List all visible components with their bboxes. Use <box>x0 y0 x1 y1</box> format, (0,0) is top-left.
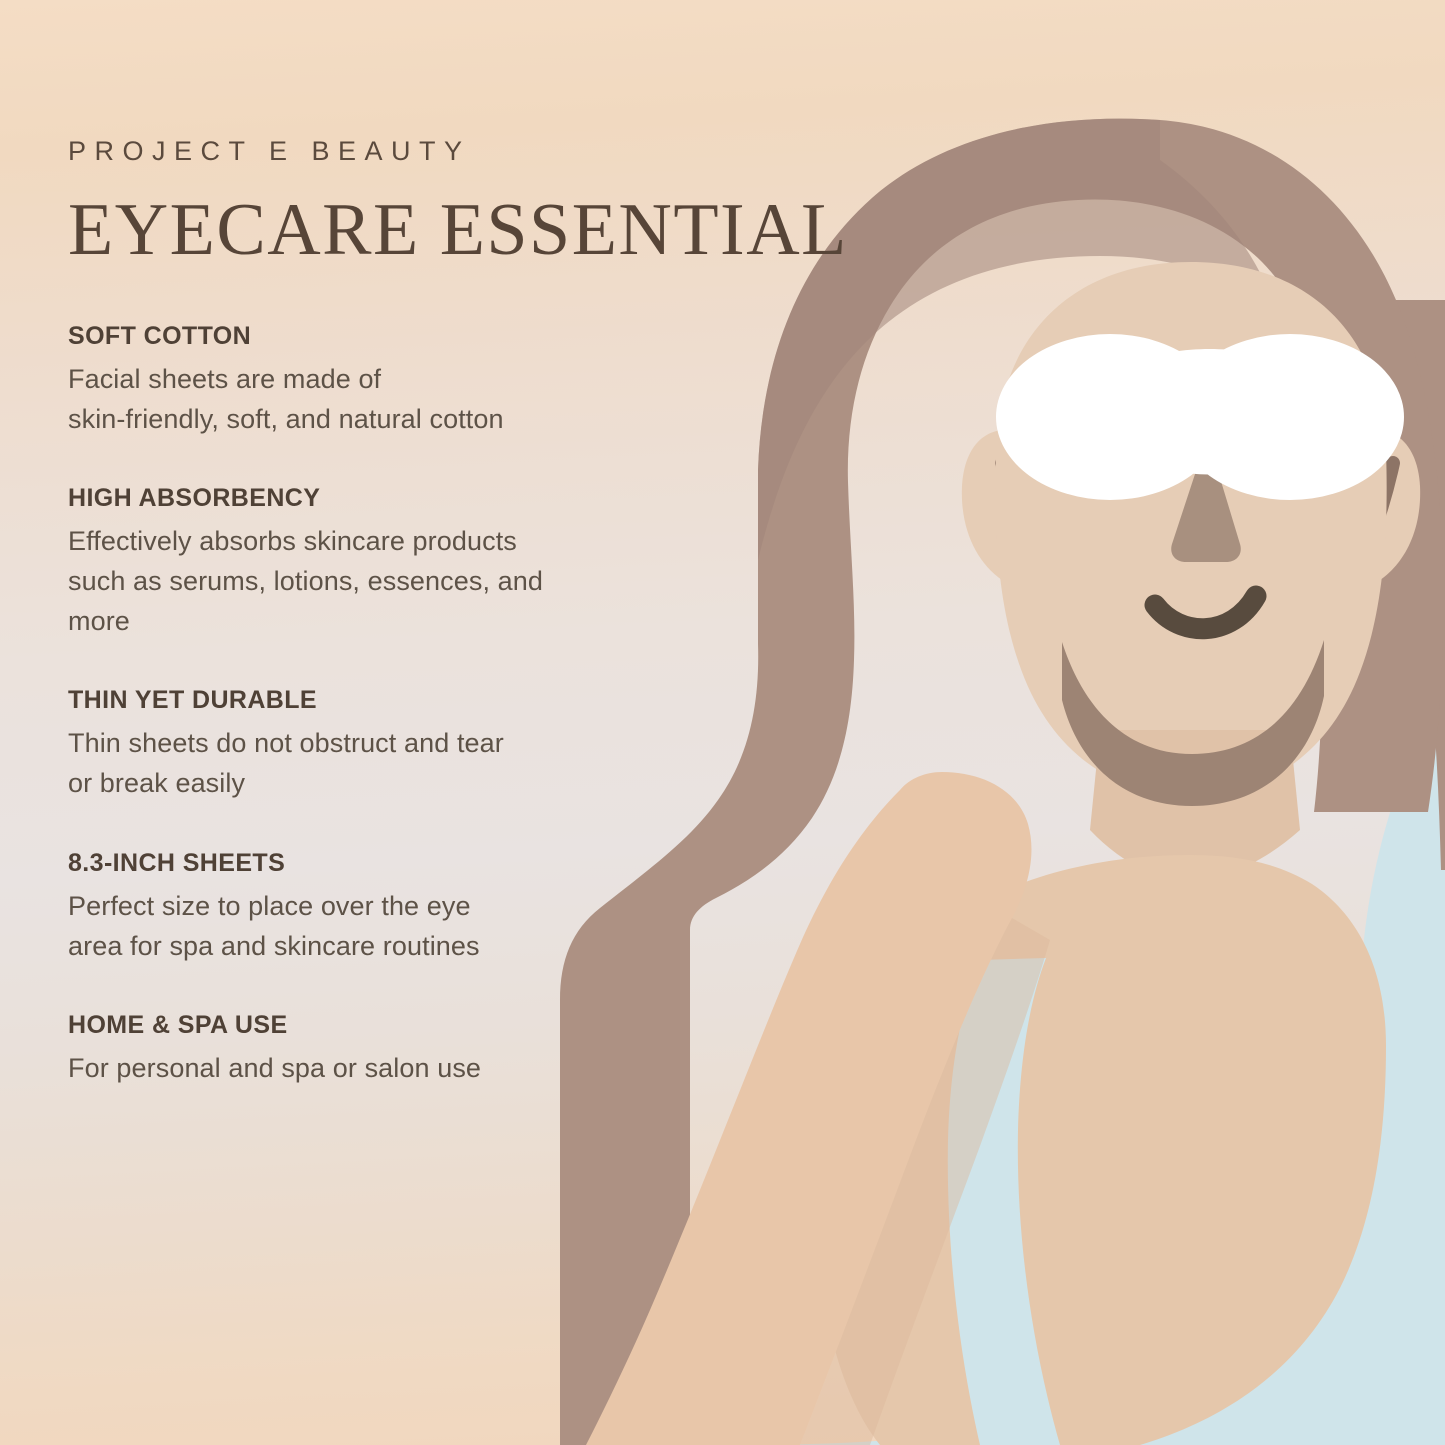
feature-body-line: skin-friendly, soft, and natural cotton <box>68 400 708 440</box>
feature-body-line: For personal and spa or salon use <box>68 1049 708 1089</box>
feature-body: Thin sheets do not obstruct and tear or … <box>68 724 708 803</box>
feature-body-line: or break easily <box>68 764 708 804</box>
feature-title: 8.3-INCH SHEETS <box>68 848 708 878</box>
product-infographic: PROJECT E BEAUTY EYECARE ESSENTIAL SOFT … <box>0 0 1445 1445</box>
feature-body: Effectively absorbs skincare products su… <box>68 522 708 641</box>
brand-name: PROJECT E BEAUTY <box>68 138 708 165</box>
page-title: EYECARE ESSENTIAL <box>68 193 708 267</box>
feature-body-line: more <box>68 602 708 642</box>
feature-body-line: Thin sheets do not obstruct and tear <box>68 724 708 764</box>
feature-title: HOME & SPA USE <box>68 1010 708 1040</box>
feature-body-line: Effectively absorbs skincare products <box>68 522 708 562</box>
feature-body-line: such as serums, lotions, essences, and <box>68 562 708 602</box>
feature-title: HIGH ABSORBENCY <box>68 483 708 513</box>
feature-block-8-3-inch-sheets: 8.3-INCH SHEETS Perfect size to place ov… <box>68 848 708 966</box>
feature-body-line: Perfect size to place over the eye <box>68 887 708 927</box>
text-column: PROJECT E BEAUTY EYECARE ESSENTIAL SOFT … <box>68 138 708 1089</box>
feature-block-thin-yet-durable: THIN YET DURABLE Thin sheets do not obst… <box>68 685 708 803</box>
feature-title: SOFT COTTON <box>68 321 708 351</box>
feature-body-line: Facial sheets are made of <box>68 360 708 400</box>
feature-body: Perfect size to place over the eye area … <box>68 887 708 966</box>
feature-block-soft-cotton: SOFT COTTON Facial sheets are made of sk… <box>68 321 708 439</box>
feature-title: THIN YET DURABLE <box>68 685 708 715</box>
feature-body: For personal and spa or salon use <box>68 1049 708 1089</box>
feature-block-home-and-spa-use: HOME & SPA USE For personal and spa or s… <box>68 1010 708 1089</box>
feature-block-high-absorbency: HIGH ABSORBENCY Effectively absorbs skin… <box>68 483 708 641</box>
feature-body: Facial sheets are made of skin-friendly,… <box>68 360 708 439</box>
feature-body-line: area for spa and skincare routines <box>68 927 708 967</box>
